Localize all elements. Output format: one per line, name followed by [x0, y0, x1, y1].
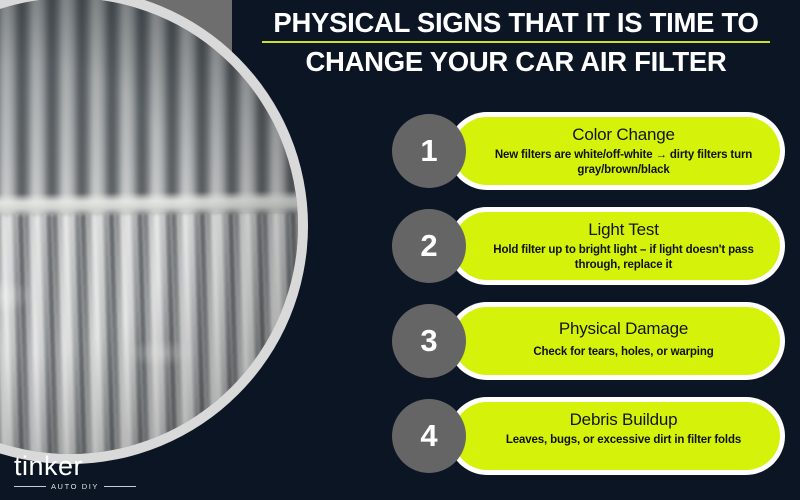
pill-body: Debris Buildup Leaves, bugs, or excessiv…	[453, 402, 780, 470]
item-title: Debris Buildup	[487, 409, 760, 431]
item-number-badge: 4	[392, 399, 466, 473]
infographic-canvas: PHYSICAL SIGNS THAT IT IS TIME TO CHANGE…	[0, 0, 800, 500]
pill-body: Color Change New filters are white/off-w…	[453, 117, 780, 185]
item-number-badge: 2	[392, 209, 466, 283]
item-number-badge: 1	[392, 114, 466, 188]
brand-logo: tinker AUTO DIY	[14, 452, 164, 491]
logo-tagline: AUTO DIY	[51, 482, 99, 491]
item-title: Color Change	[487, 124, 760, 146]
title-line-2: CHANGE YOUR CAR AIR FILTER	[246, 45, 786, 78]
list-item: Physical Damage Check for tears, holes, …	[392, 302, 792, 380]
pill-body: Light Test Hold filter up to bright ligh…	[453, 212, 780, 280]
item-description: Check for tears, holes, or warping	[487, 345, 760, 360]
page-title: PHYSICAL SIGNS THAT IT IS TIME TO CHANGE…	[246, 6, 786, 78]
title-line-1: PHYSICAL SIGNS THAT IT IS TIME TO	[246, 6, 786, 39]
logo-tagline-row: AUTO DIY	[14, 482, 136, 491]
pill-body: Physical Damage Check for tears, holes, …	[453, 307, 780, 375]
item-title: Physical Damage	[487, 318, 760, 340]
list-item: Color Change New filters are white/off-w…	[392, 112, 792, 190]
logo-rule-right	[104, 486, 136, 487]
list-item: Debris Buildup Leaves, bugs, or excessiv…	[392, 397, 792, 475]
item-description: Leaves, bugs, or excessive dirt in filte…	[487, 433, 760, 448]
item-description: Hold filter up to bright light – if ligh…	[487, 243, 760, 272]
item-description: New filters are white/off-white → dirty …	[487, 148, 760, 177]
list-item: Light Test Hold filter up to bright ligh…	[392, 207, 792, 285]
logo-rule-left	[14, 486, 46, 487]
item-number-badge: 3	[392, 304, 466, 378]
signs-list: Color Change New filters are white/off-w…	[392, 112, 792, 492]
item-title: Light Test	[487, 219, 760, 241]
logo-wordmark: tinker	[14, 452, 164, 480]
title-divider-rule	[262, 41, 770, 43]
